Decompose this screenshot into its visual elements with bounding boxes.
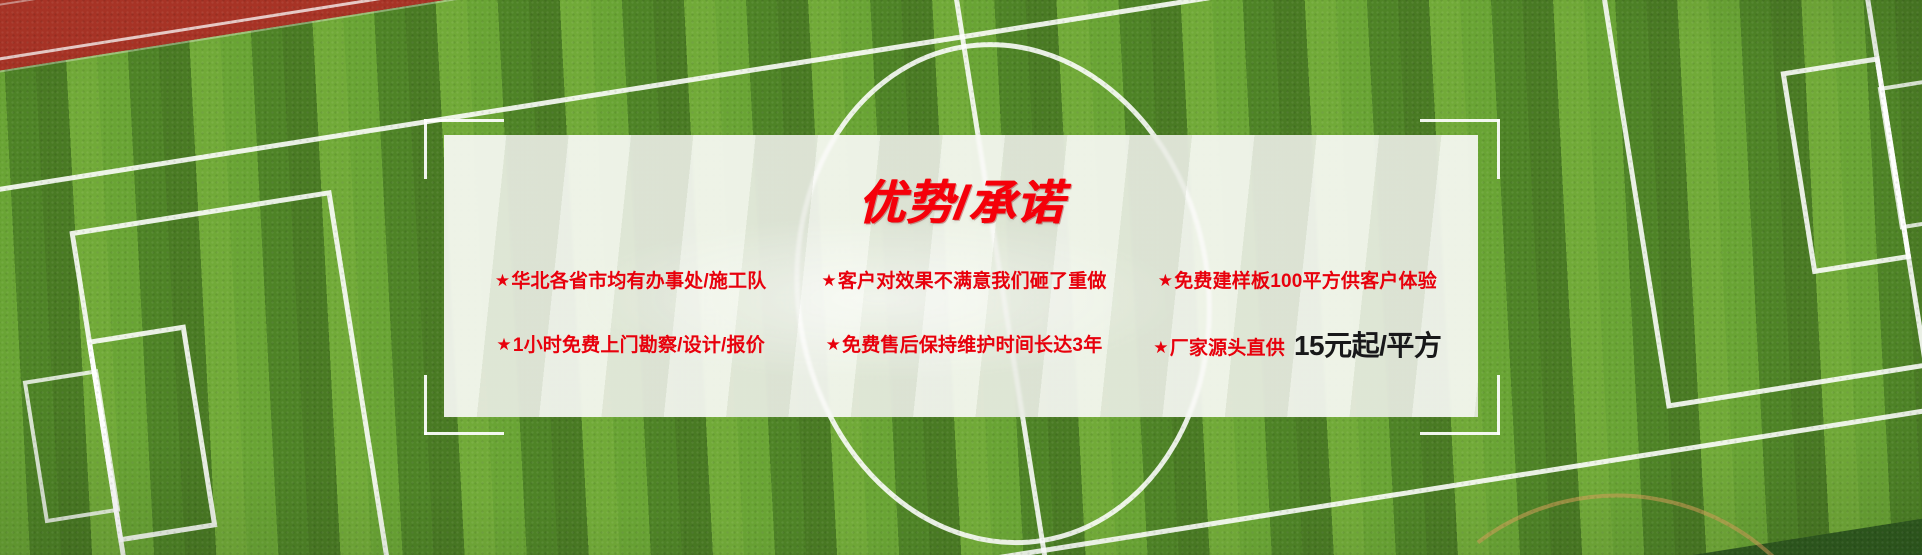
advantage-text: 免费售后保持维护时间长达3年: [842, 330, 1102, 357]
advantage-item: ★ 免费建样板100平方供客户体验: [1131, 266, 1464, 293]
advantages-grid: ★ 华北各省市均有办事处/施工队 ★ 客户对效果不满意我们砸了重做 ★ 免费建样…: [444, 266, 1478, 363]
banner-title: 优势/承诺: [858, 179, 1064, 226]
advantage-text: 免费建样板100平方供客户体验: [1174, 266, 1437, 293]
advantage-text: 客户对效果不满意我们砸了重做: [838, 266, 1107, 293]
star-icon: ★: [821, 272, 836, 289]
advantage-text: 厂家源头直供: [1170, 333, 1285, 360]
star-icon: ★: [1158, 272, 1173, 289]
advantage-item: ★ 华北各省市均有办事处/施工队: [464, 266, 797, 293]
price-highlight: 15元起/平方: [1294, 324, 1441, 364]
star-icon: ★: [496, 336, 511, 353]
star-icon: ★: [1153, 339, 1168, 356]
advantage-text: 华北各省市均有办事处/施工队: [511, 266, 766, 293]
advantage-text: 1小时免费上门勘察/设计/报价: [513, 330, 765, 357]
advantage-item: ★ 1小时免费上门勘察/设计/报价: [464, 323, 797, 363]
star-icon: ★: [826, 336, 841, 353]
advantage-item: ★ 免费售后保持维护时间长达3年: [797, 323, 1130, 363]
advantage-item-price: ★ 厂家源头直供 15元起/平方: [1131, 323, 1464, 363]
advantage-item: ★ 客户对效果不满意我们砸了重做: [797, 266, 1130, 293]
star-icon: ★: [495, 272, 510, 289]
content-panel: 优势/承诺 ★ 华北各省市均有办事处/施工队 ★ 客户对效果不满意我们砸了重做: [444, 135, 1478, 417]
banner-stage: 优势/承诺 ★ 华北各省市均有办事处/施工队 ★ 客户对效果不满意我们砸了重做: [0, 0, 1922, 555]
